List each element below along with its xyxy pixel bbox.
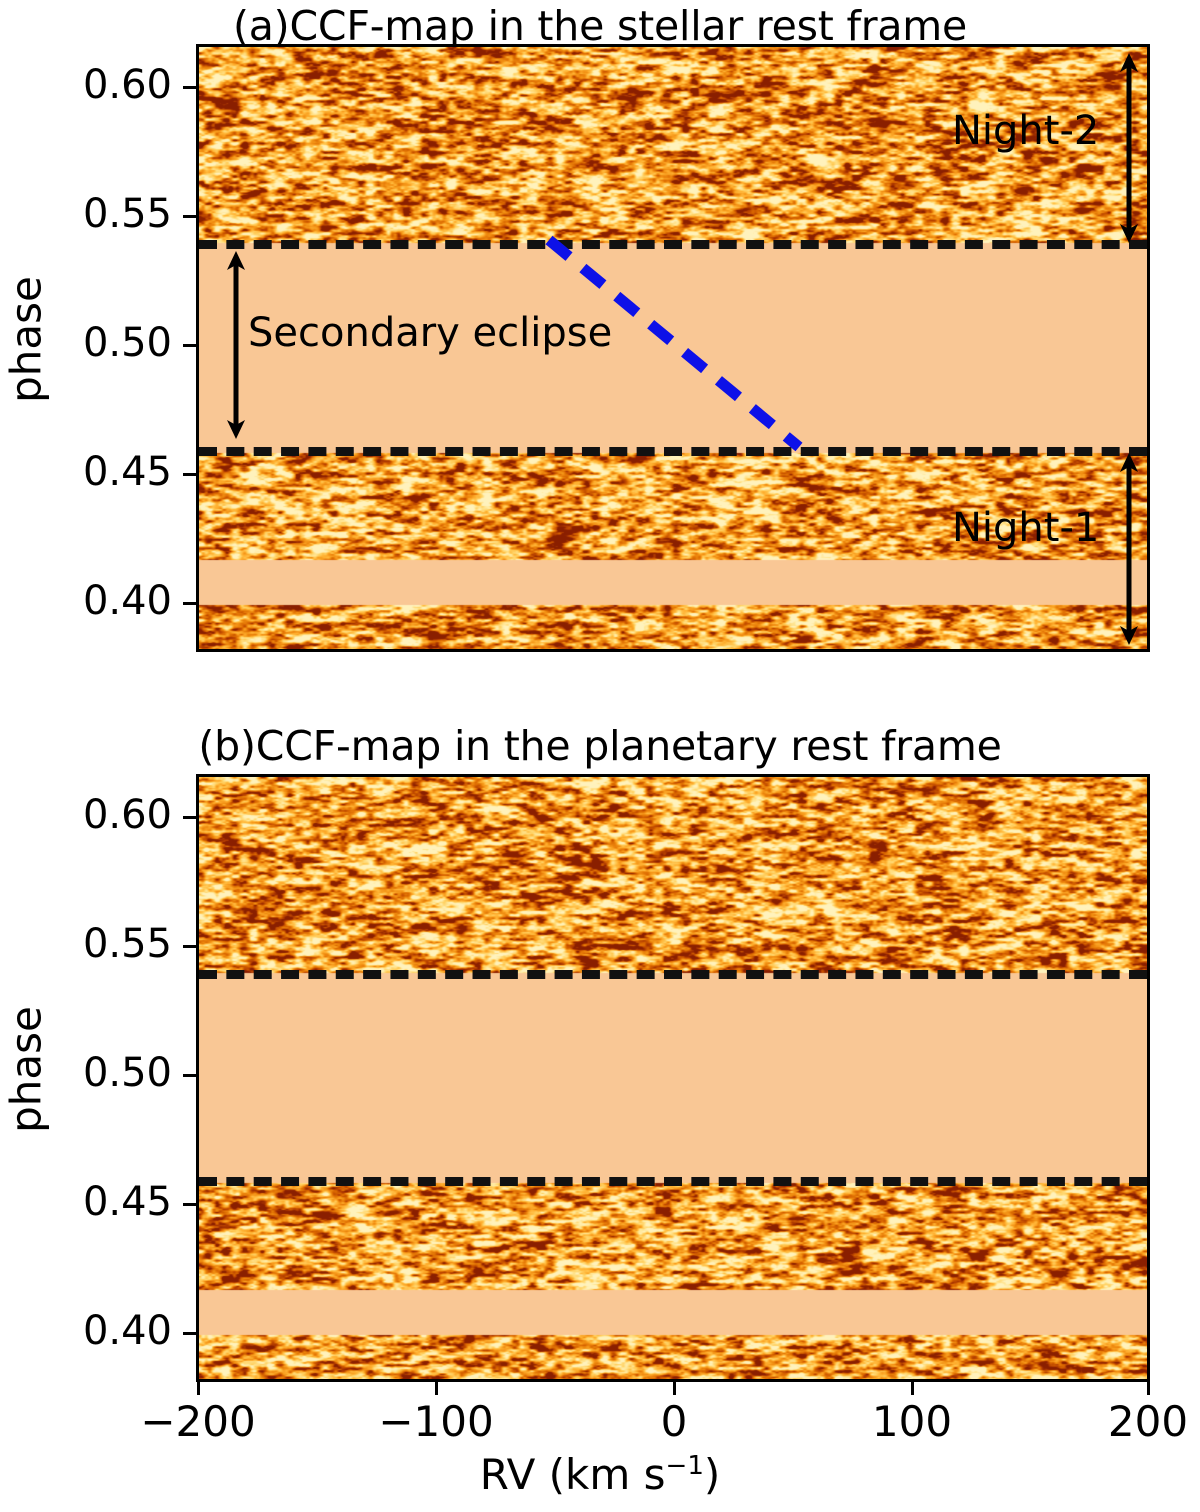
panel-b-xtick-0 (197, 1382, 200, 1395)
panel-b-xtick-3 (911, 1382, 914, 1395)
panel-b-yticklabel-0: 0.60 (0, 792, 172, 838)
panel-b: (b)CCF-map in the planetary rest frame p… (0, 0, 1200, 1512)
panel-b-xticklabel-4: 200 (1048, 1397, 1200, 1446)
panel-b-xticklabel-3: 100 (812, 1397, 1012, 1446)
x-axis-label-exponent: −1 (666, 1451, 704, 1481)
panel-b-ytick-3 (183, 1203, 196, 1206)
x-axis-label: RV (km s−1) (0, 1450, 1200, 1499)
panel-b-xticklabel-1: −100 (336, 1397, 536, 1446)
panel-b-ytick-4 (183, 1332, 196, 1335)
x-axis-label-main: RV (km s (480, 1450, 666, 1499)
panel-b-heatmap (199, 777, 1147, 1379)
panel-b-xtick-1 (435, 1382, 438, 1395)
panel-b-ytick-0 (183, 816, 196, 819)
panel-b-axes (196, 774, 1150, 1382)
panel-b-xticklabel-2: 0 (574, 1397, 774, 1446)
panel-b-xticklabel-0: −200 (98, 1397, 298, 1446)
panel-b-xtick-4 (1147, 1382, 1150, 1395)
ccf-map-figure: (a)CCF-map in the stellar rest frame pha… (0, 0, 1200, 1512)
panel-b-yticklabel-2: 0.50 (0, 1050, 172, 1096)
panel-b-ytick-1 (183, 945, 196, 948)
panel-b-yticklabel-4: 0.40 (0, 1308, 172, 1354)
panel-b-title: (b)CCF-map in the planetary rest frame (0, 722, 1200, 770)
panel-b-yticklabel-1: 0.55 (0, 921, 172, 967)
panel-b-ytick-2 (183, 1074, 196, 1077)
panel-b-eclipse-start-dashed-line (199, 1177, 1147, 1186)
x-axis-label-tail: ) (704, 1450, 720, 1499)
panel-b-eclipse-end-dashed-line (199, 970, 1147, 979)
panel-b-yticklabel-3: 0.45 (0, 1179, 172, 1225)
panel-b-xtick-2 (673, 1382, 676, 1395)
